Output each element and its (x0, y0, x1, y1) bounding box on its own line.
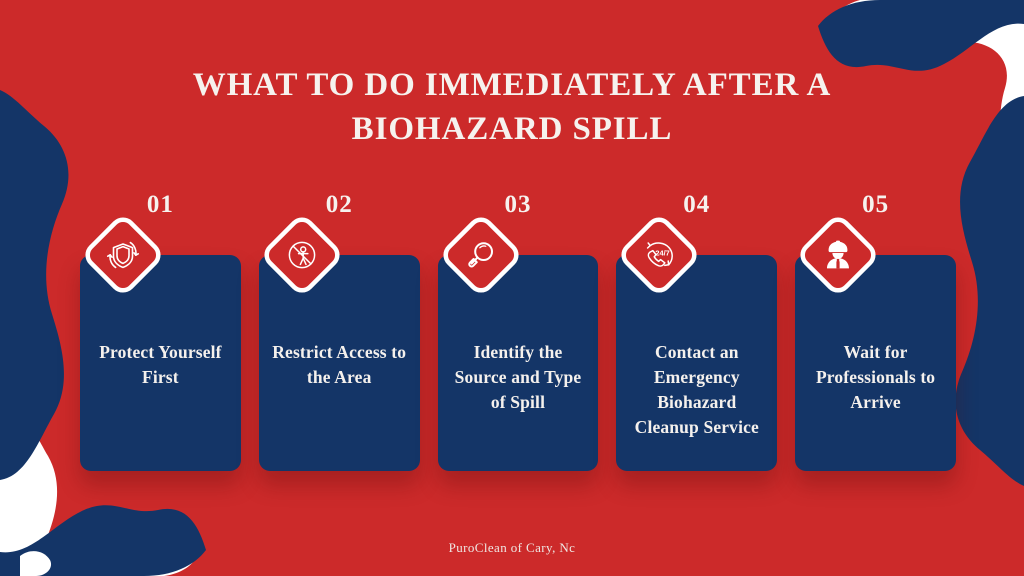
step-number-4: 04 (683, 191, 710, 219)
step-number-5: 05 (862, 191, 889, 219)
title-block: WHAT TO DO IMMEDIATELY AFTER A BIOHAZARD… (0, 64, 1024, 151)
step-card-3[interactable]: 03 Identify the Source and Type of Spill (438, 255, 599, 471)
step-label-3: Identify the Source and Type of Spill (438, 340, 599, 415)
page-title-line-1: WHAT TO DO IMMEDIATELY AFTER A (0, 64, 1024, 108)
step-number-2: 02 (326, 191, 353, 219)
step-card-5[interactable]: 05 Wait for Professionals t (795, 255, 956, 471)
step-number-1: 01 (147, 191, 174, 219)
step-badge-4: 24/7 (620, 216, 698, 294)
step-badge-2 (263, 216, 341, 294)
step-badge-3 (442, 216, 520, 294)
step-card-1[interactable]: 01 Protect You (80, 255, 241, 471)
svg-text:24/7: 24/7 (656, 248, 670, 257)
step-label-1: Protect Yourself First (80, 340, 241, 390)
step-label-5: Wait for Professionals to Arrive (795, 340, 956, 415)
step-card-4[interactable]: 04 24/7 Contact an Emergency (616, 255, 777, 471)
step-badge-5 (799, 216, 877, 294)
steps-row: 01 Protect You (80, 255, 956, 471)
page-title-line-2: BIOHAZARD SPILL (0, 108, 1024, 152)
footer-credit: PuroClean of Cary, Nc (0, 540, 1024, 556)
step-badge-1 (84, 216, 162, 294)
infographic-slide: WHAT TO DO IMMEDIATELY AFTER A BIOHAZARD… (0, 0, 1024, 576)
step-number-3: 03 (504, 191, 531, 219)
step-label-4: Contact an Emergency Biohazard Cleanup S… (616, 340, 777, 439)
step-label-2: Restrict Access to the Area (259, 340, 420, 390)
step-card-2[interactable]: 02 Restrict Access to the A (259, 255, 420, 471)
